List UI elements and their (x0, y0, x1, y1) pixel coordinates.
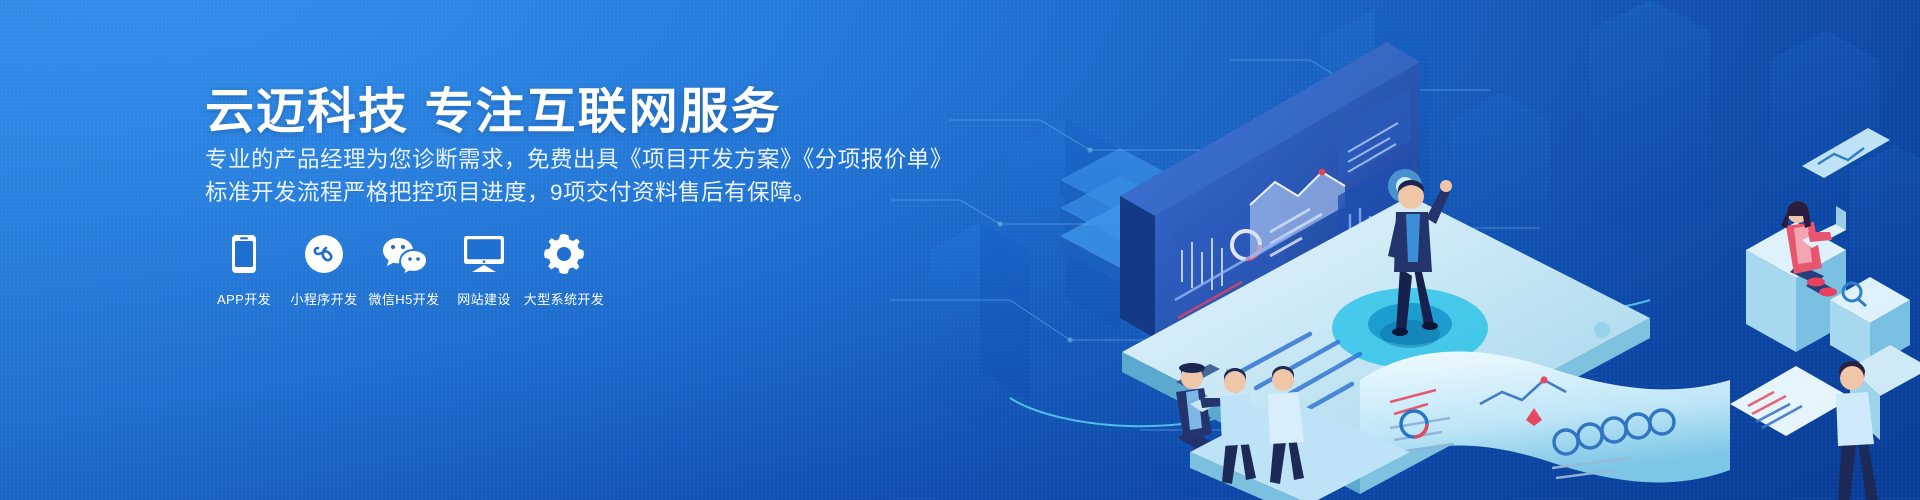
mini-program-icon (302, 232, 346, 276)
service-item-mini-program[interactable]: 小程序开发 (287, 232, 361, 308)
service-label-wechat-h5: 微信H5开发 (368, 289, 439, 308)
service-item-wechat-h5[interactable]: 微信H5开发 (367, 232, 441, 308)
service-list: APP开发 小程序开发 (207, 232, 607, 308)
code-panel-group (1730, 361, 1878, 500)
service-item-app[interactable]: APP开发 (207, 232, 281, 308)
desktop-monitor-icon (462, 232, 506, 276)
gear-icon (542, 232, 586, 276)
wechat-icon (382, 232, 426, 276)
subtitle-line-2: 标准开发流程严格把控项目进度，9项交付资料售后有保障。 (205, 176, 1085, 209)
banner-subtitle: 专业的产品经理为您诊断需求，免费出具《项目开发方案》《分项报价单》 标准开发流程… (205, 143, 1085, 209)
service-item-large-system[interactable]: 大型系统开发 (527, 232, 601, 308)
service-label-website: 网站建设 (457, 289, 511, 308)
service-label-mini-program: 小程序开发 (290, 289, 357, 308)
subtitle-line-1: 专业的产品经理为您诊断需求，免费出具《项目开发方案》《分项报价单》 (205, 143, 1085, 176)
banner-content: 云迈科技 专注互联网服务 专业的产品经理为您诊断需求，免费出具《项目开发方案》《… (205, 0, 1105, 500)
service-label-large-system: 大型系统开发 (524, 289, 604, 308)
mobile-phone-icon (222, 232, 266, 276)
service-item-website[interactable]: 网站建设 (447, 232, 521, 308)
hero-banner: 云迈科技 专注互联网服务 专业的产品经理为您诊断需求，免费出具《项目开发方案》《… (0, 0, 1920, 500)
service-label-app: APP开发 (217, 289, 271, 308)
page-title: 云迈科技 专注互联网服务 (205, 72, 782, 143)
